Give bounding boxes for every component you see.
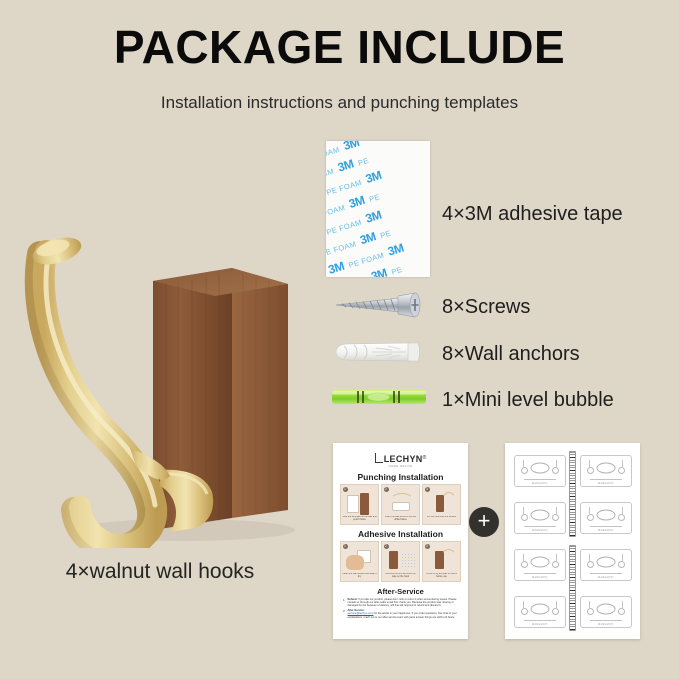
hook-caption: 4×walnut wall hooks [0,560,320,584]
step-caption: Insert the wall anchors into the drilled… [383,516,418,523]
template-dimension-label: 10-16mm(0.6") [515,529,565,532]
template-dimension-label: 10-16mm(0.6") [581,482,631,485]
wall-anchor-icon [330,337,430,367]
template-grid: 10-16mm(0.6") 10-16mm(0.6") 10-16mm(0.6"… [511,449,634,633]
item-label-wall-anchors: 8×Wall anchors [442,343,580,366]
ruler-strip-cell [569,545,576,631]
step-art [427,548,456,573]
step-card: 2 Insert the wall anchors into the drill… [381,484,420,525]
step-art [386,491,415,516]
item-label-screws: 8×Screws [442,296,530,319]
step-art [345,491,374,516]
template-dimension-label: 10-16mm(0.6") [515,482,565,485]
step-art [345,548,374,573]
item-label-level-bubble: 1×Mini level bubble [442,389,614,412]
page-title: PACKAGE INCLUDE [0,20,679,74]
step-art [386,548,415,573]
section-title-adhesive: Adhesive Installation [358,529,443,539]
step-card: 3 Fix the hook with the screws [422,484,461,525]
after-service-entry: 2. After-Service: service@lechyn.com for… [343,609,458,619]
3m-tape-icon: 3MPE FOAM3MPE M3MPE FOAM3M 3MPE FOAM3MPE… [326,141,430,277]
walnut-wall-hook-photo [10,118,320,548]
item-label-adhesive-tape: 4×3M adhesive tape [442,203,623,226]
template-card: 10-16mm(0.6") [514,596,566,628]
entry-number: 1. [343,598,346,608]
brand-name: LECHYN [384,454,423,464]
step-caption: Fix the hook with the screws [424,516,459,523]
template-card: 10-16mm(0.6") [514,455,566,487]
template-card: 10-16mm(0.6") [580,549,632,581]
screw-icon [330,290,430,320]
step-caption: Stick the template on the wall and punch… [342,516,377,523]
step-art [427,491,456,516]
punching-template-sheet[interactable]: 10-16mm(0.6") 10-16mm(0.6") 10-16mm(0.6"… [505,443,640,639]
brand-logo: LECHYN ® [375,452,427,464]
after-service-body: 1. Refund: If you like our product, plea… [338,598,463,620]
step-card: 2 Remove the film and stick the tape on … [381,541,420,582]
section-title-after-service: After-Service [377,587,424,596]
ruler-icon [569,451,576,537]
step-caption: Press firmly and wait 24 hours before us… [424,573,459,580]
page-subtitle: Installation instructions and punching t… [0,93,679,113]
template-card: 10-16mm(0.6") [514,549,566,581]
template-card: 10-16mm(0.6") [580,455,632,487]
package-include-infographic: PACKAGE INCLUDE Installation instruction… [0,0,679,679]
step-caption: Clean the wall surface and keep it dry [342,573,377,580]
template-card: 10-16mm(0.6") [514,502,566,534]
instruction-sheet[interactable]: LECHYN ® HOME DECOR Punching Installatio… [333,443,468,639]
plus-separator-icon: + [469,507,499,537]
step-card: 1 Stick the template on the wall and pun… [340,484,379,525]
ruler-strip-cell [569,451,576,537]
adhesive-steps: 1 Clean the wall surface and keep it dry… [338,541,463,582]
brand-mark-icon [375,453,383,463]
registered-trademark-icon: ® [423,455,427,461]
template-dimension-label: 10-16mm(0.6") [515,623,565,626]
step-caption: Remove the film and stick the tape on th… [383,573,418,580]
tape-pattern: 3MPE FOAM3MPE M3MPE FOAM3M 3MPE FOAM3MPE… [326,141,430,277]
after-service-entry: 1. Refund: If you like our product, plea… [343,598,458,608]
entry-number: 2. [343,609,346,619]
level-bubble-icon [330,385,430,409]
entry-text: If you like our product, please don't ru… [348,598,457,607]
template-dimension-label: 10-16mm(0.6") [581,576,631,579]
section-title-punching: Punching Installation [358,472,444,482]
template-dimension-label: 10-16mm(0.6") [581,623,631,626]
template-dimension-label: 10-16mm(0.6") [515,576,565,579]
template-card: 10-16mm(0.6") [580,502,632,534]
punching-steps: 1 Stick the template on the wall and pun… [338,484,463,525]
ruler-icon [569,545,576,631]
template-card: 10-16mm(0.6") [580,596,632,628]
step-card: 1 Clean the wall surface and keep it dry [340,541,379,582]
brand-tagline: HOME DECOR [389,465,413,468]
template-dimension-label: 10-16mm(0.6") [581,529,631,532]
step-card: 3 Press firmly and wait 24 hours before … [422,541,461,582]
